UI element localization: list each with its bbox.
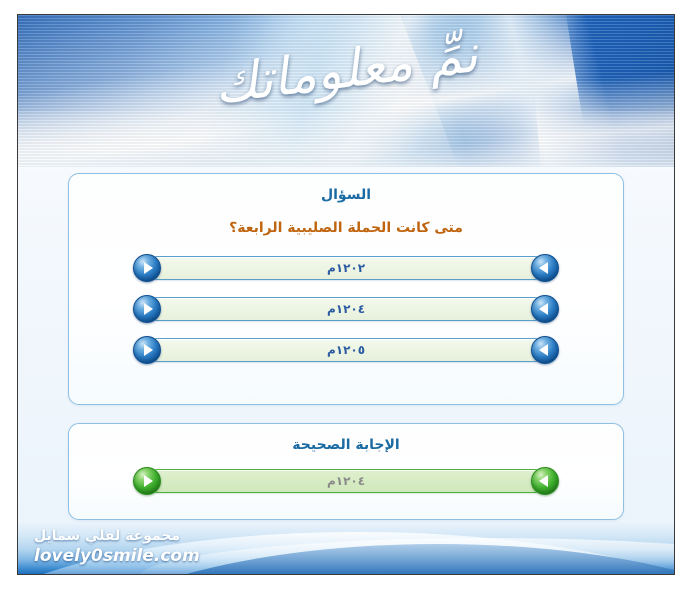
header-banner: نمِّ معلوماتك	[18, 15, 674, 167]
option-row[interactable]: ١٢٠٤م	[133, 295, 559, 323]
play-right-icon[interactable]	[133, 467, 161, 495]
answer-row-wrapper: ١٢٠٤م	[69, 467, 623, 495]
play-left-icon[interactable]	[531, 295, 559, 323]
play-right-icon[interactable]	[133, 254, 161, 282]
option-bar[interactable]: ١٢٠٥م	[152, 338, 540, 362]
answer-heading: الإجابة الصحيحة	[69, 437, 623, 453]
option-bar[interactable]: ١٢٠٤م	[152, 297, 540, 321]
question-panel: السؤال متى كانت الحملة الصليبية الرابعة؟…	[68, 173, 624, 405]
answer-row[interactable]: ١٢٠٤م	[133, 467, 559, 495]
question-heading: السؤال	[69, 187, 623, 203]
option-label: ١٢٠٥م	[327, 343, 365, 357]
page-root: نمِّ معلوماتك lovely0smile.com السؤال مت…	[0, 0, 692, 602]
option-label: ١٢٠٢م	[327, 261, 365, 275]
footer-branding: مجموعة لفلي سمايل lovely0smile.com	[34, 526, 200, 566]
answer-bar[interactable]: ١٢٠٤م	[152, 469, 540, 493]
footer-arabic-label: مجموعة لفلي سمايل	[34, 526, 200, 546]
answer-panel: الإجابة الصحيحة ١٢٠٤م	[68, 423, 624, 520]
option-label: ١٢٠٤م	[327, 302, 365, 316]
play-left-icon[interactable]	[531, 336, 559, 364]
page-content: نمِّ معلوماتك lovely0smile.com السؤال مت…	[18, 15, 674, 574]
question-text: متى كانت الحملة الصليبية الرابعة؟	[69, 220, 623, 236]
banner-title: نمِّ معلوماتك	[18, 15, 674, 149]
options-list: ١٢٠٢م ١٢٠٤م	[69, 254, 623, 364]
option-row[interactable]: ١٢٠٥م	[133, 336, 559, 364]
play-right-icon[interactable]	[133, 336, 161, 364]
play-right-icon[interactable]	[133, 295, 161, 323]
play-left-icon[interactable]	[531, 254, 559, 282]
option-row[interactable]: ١٢٠٢م	[133, 254, 559, 282]
play-left-icon[interactable]	[531, 467, 559, 495]
option-bar[interactable]: ١٢٠٢م	[152, 256, 540, 280]
footer-banner: مجموعة لفلي سمايل lovely0smile.com	[18, 520, 674, 574]
footer-url-label: lovely0smile.com	[34, 546, 200, 566]
answer-label: ١٢٠٤م	[327, 474, 365, 488]
